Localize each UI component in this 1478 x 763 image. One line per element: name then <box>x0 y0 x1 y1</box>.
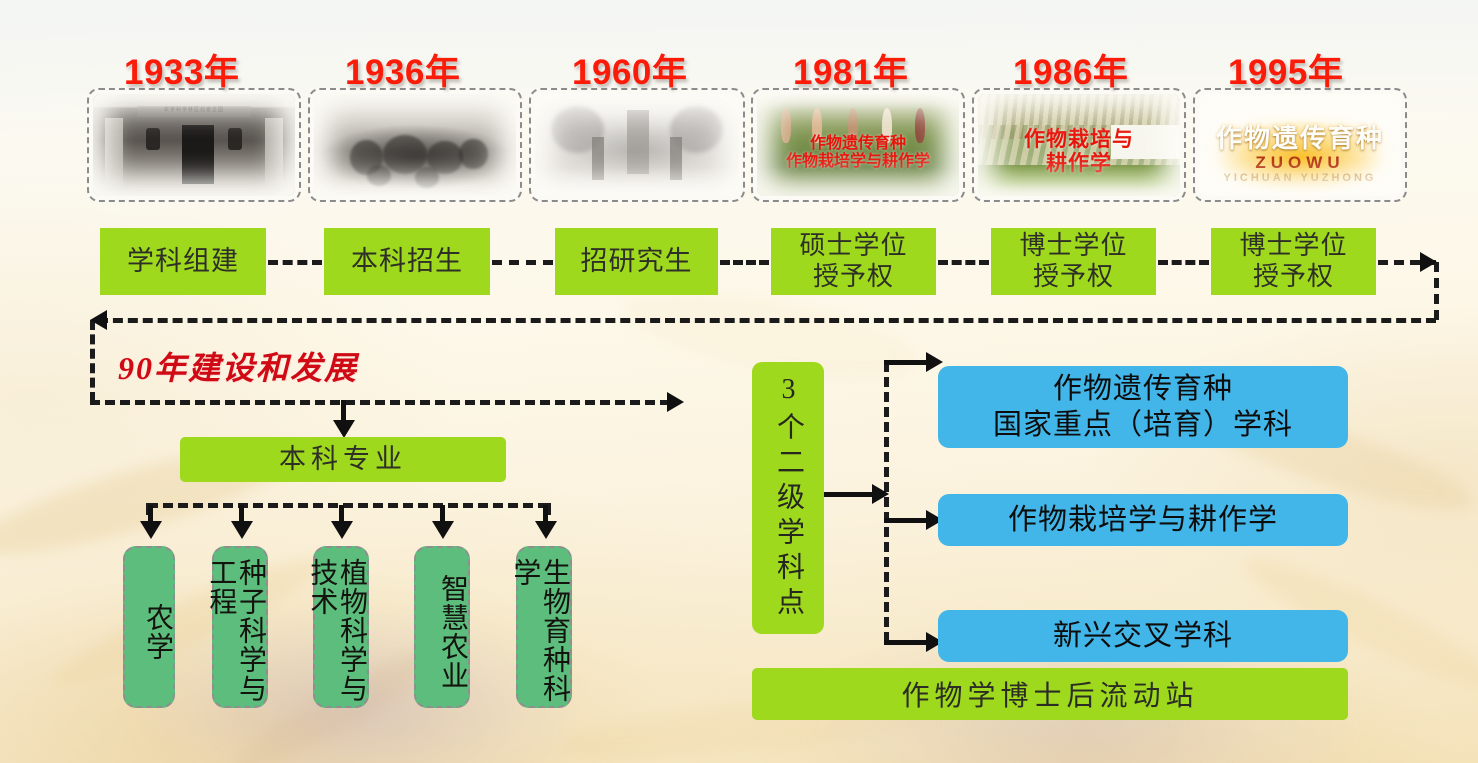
major-label: 农学 <box>143 603 173 661</box>
major-arrow-3 <box>331 521 353 539</box>
photo-inner: 作物遗传育种 ZUOWU YICHUAN YUZHONG <box>1199 94 1401 196</box>
photo-overlay-line2: 作物栽培学与耕作学 <box>757 147 959 171</box>
discipline-line1: 作物遗传育种 <box>1053 371 1233 407</box>
discipline-line2: 国家重点（培育）学科 <box>993 407 1293 443</box>
undergraduate-heading: 本科专业 <box>279 444 407 475</box>
postdoc-station-box[interactable]: 作物学博士后流动站 <box>752 668 1348 720</box>
major-box-agronomy[interactable]: 农学 <box>123 546 175 708</box>
discipline-box-2[interactable]: 作物栽培学与耕作学 <box>938 494 1348 546</box>
logo-title: 作物遗传育种 <box>1199 118 1401 155</box>
photo-art <box>314 94 516 196</box>
major-arrow-4 <box>432 521 454 539</box>
band-arrow-right <box>667 392 684 412</box>
band-bottom <box>90 400 670 405</box>
timeline-wrap-back <box>98 318 1436 323</box>
old-building-photo: 农学科学林区北省立国 <box>87 88 301 202</box>
timeline-arrow-right <box>1420 252 1437 272</box>
major-label: 种子科学与工程 <box>207 558 266 706</box>
page-title: 90年建设和发展 <box>118 343 358 389</box>
campus-gate-photo <box>529 88 745 202</box>
major-label: 生物育种科学 <box>511 558 570 706</box>
year-label-1981: 1981年 <box>793 44 908 95</box>
major-arrow-1 <box>140 521 162 539</box>
photo-art: 农学科学林区北省立国 <box>93 94 295 196</box>
milestone-label-line1: 硕士学位 <box>799 231 907 261</box>
undergraduate-heading-box[interactable]: 本科专业 <box>180 437 506 482</box>
graduate-group-box[interactable]: 3个二级学科点 <box>752 362 824 634</box>
major-label: 植物科学与技术 <box>308 558 367 706</box>
photo-inner <box>314 94 516 196</box>
major-box-bio-breeding[interactable]: 生物育种科学 <box>516 546 572 708</box>
graduate-group-label: 3个二级学科点 <box>774 374 802 622</box>
timeline-wrap-arrow <box>90 310 107 330</box>
milestone-box-4[interactable]: 硕士学位 授予权 <box>771 228 936 295</box>
timeline-connector-3 <box>720 260 769 265</box>
photo-overlay-line2: 耕作学 <box>978 147 1180 177</box>
discipline-box-3[interactable]: 新兴交叉学科 <box>938 610 1348 662</box>
sorghum-field-photo: 作物遗传育种 作物栽培学与耕作学 <box>751 88 965 202</box>
photo-inner: 农学科学林区北省立国 <box>93 94 295 196</box>
graduate-bus-arrow-stem <box>824 492 876 497</box>
discipline-box-1[interactable]: 作物遗传育种 国家重点（培育）学科 <box>938 366 1348 448</box>
undergrad-arrow-head <box>333 420 355 438</box>
discipline-logo-photo: 作物遗传育种 ZUOWU YICHUAN YUZHONG <box>1193 88 1407 202</box>
milestone-box-5[interactable]: 博士学位 授予权 <box>991 228 1156 295</box>
band-left-edge <box>90 320 95 402</box>
milestone-label-line2: 授予权 <box>1033 262 1114 292</box>
major-arrow-5 <box>535 521 557 539</box>
milestone-label: 招研究生 <box>581 246 693 277</box>
milestone-label-line2: 授予权 <box>813 262 894 292</box>
postdoc-station-label: 作物学博士后流动站 <box>901 674 1198 714</box>
timeline-connector-5 <box>1158 260 1209 265</box>
major-box-plant-science[interactable]: 植物科学与技术 <box>313 546 369 708</box>
graduate-branch-1-stem <box>884 360 932 365</box>
timeline-connector-2 <box>492 260 553 265</box>
logo-pinyin-2: YICHUAN YUZHONG <box>1199 172 1401 184</box>
graduate-bus-arrow-head <box>872 484 889 504</box>
major-arrow-2 <box>231 521 253 539</box>
milestone-label: 本科招生 <box>351 246 463 277</box>
milestone-box-6[interactable]: 博士学位 授予权 <box>1211 228 1376 295</box>
slide-canvas: 1933年 1936年 1960年 1981年 1986年 1995年 农学科学… <box>0 0 1478 763</box>
major-box-seed-science[interactable]: 种子科学与工程 <box>212 546 268 708</box>
crop-rows-photo: 作物栽培与 耕作学 <box>972 88 1186 202</box>
discipline-line1: 作物栽培学与耕作学 <box>1008 502 1278 538</box>
majors-bus <box>148 503 548 508</box>
milestone-label-line2: 授予权 <box>1253 262 1334 292</box>
photo-inner: 作物遗传育种 作物栽培学与耕作学 <box>757 94 959 196</box>
photo-inner <box>535 94 739 196</box>
timeline-connector-1 <box>268 260 322 265</box>
photo-inner: 作物栽培与 耕作学 <box>978 94 1180 196</box>
major-label: 智慧农业 <box>438 574 468 690</box>
milestone-label-line1: 博士学位 <box>1019 231 1127 261</box>
historic-gathering-photo <box>308 88 522 202</box>
milestone-box-1[interactable]: 学科组建 <box>100 228 266 295</box>
graduate-branch-2-stem <box>884 518 932 523</box>
photo-art <box>535 94 739 196</box>
logo-pinyin-1: ZUOWU <box>1199 153 1401 173</box>
year-label-1936: 1936年 <box>345 44 460 95</box>
year-label-1960: 1960年 <box>572 44 687 95</box>
year-label-1933: 1933年 <box>124 44 239 95</box>
milestone-label: 学科组建 <box>127 246 239 277</box>
milestone-box-3[interactable]: 招研究生 <box>555 228 718 295</box>
year-label-1995: 1995年 <box>1228 44 1343 95</box>
year-label-1986: 1986年 <box>1013 44 1128 95</box>
major-box-smart-agriculture[interactable]: 智慧农业 <box>414 546 470 708</box>
milestone-box-2[interactable]: 本科招生 <box>324 228 490 295</box>
graduate-branch-3-stem <box>884 640 932 645</box>
timeline-connector-4 <box>938 260 989 265</box>
discipline-line1: 新兴交叉学科 <box>1053 618 1233 654</box>
milestone-label-line1: 博士学位 <box>1239 231 1347 261</box>
